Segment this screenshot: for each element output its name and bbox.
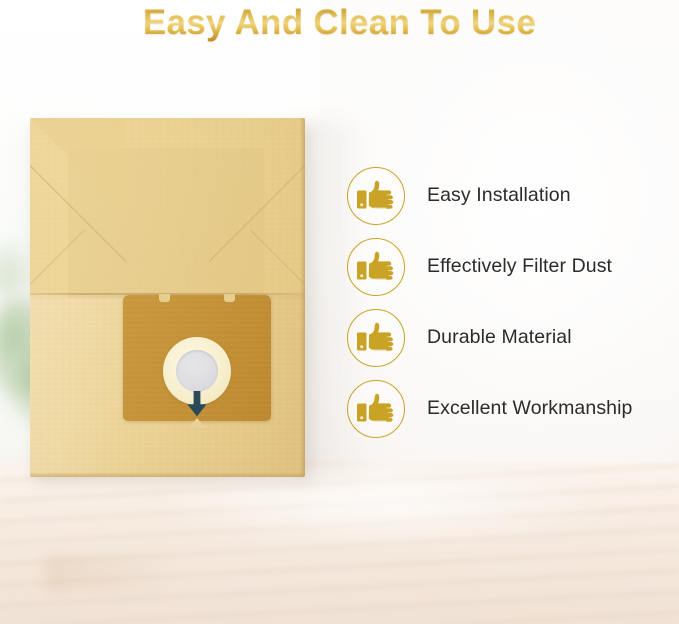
background-floor-plank-accent bbox=[44, 556, 174, 592]
feature-row: Effectively Filter Dust bbox=[347, 231, 667, 302]
thumbs-up-icon bbox=[347, 309, 405, 367]
thumbs-up-icon bbox=[347, 238, 405, 296]
infographic-canvas: Easy And Clean To Use bbox=[0, 0, 679, 624]
collar-notch-right bbox=[224, 294, 235, 302]
feature-row: Excellent Workmanship bbox=[347, 373, 667, 444]
thumbs-up-icon bbox=[347, 167, 405, 225]
feature-row: Durable Material bbox=[347, 302, 667, 373]
direction-arrow-icon bbox=[186, 391, 208, 417]
feature-label: Easy Installation bbox=[427, 184, 571, 207]
bag-fold-line-bottom-right bbox=[250, 229, 305, 291]
page-title: Easy And Clean To Use bbox=[0, 1, 679, 45]
bag-fold-corner-left bbox=[30, 118, 126, 214]
suction-inlet-membrane bbox=[176, 350, 218, 392]
cardboard-collar-plate bbox=[123, 295, 271, 421]
feature-row: Easy Installation bbox=[347, 160, 667, 231]
feature-list: Easy Installation Effectively Filter Dus… bbox=[347, 160, 667, 444]
background-floor-highlight bbox=[150, 470, 620, 550]
bag-top-flap bbox=[30, 118, 305, 294]
bag-bottom-edge bbox=[30, 473, 305, 477]
dust-bag-image bbox=[30, 118, 305, 477]
thumbs-up-icon bbox=[347, 380, 405, 438]
bag-fold-line-top-right bbox=[208, 158, 305, 262]
bag-fold-line-bottom-left bbox=[30, 229, 85, 291]
bag-right-edge bbox=[301, 118, 305, 477]
collar-notch-left bbox=[159, 294, 170, 302]
feature-label: Durable Material bbox=[427, 326, 572, 349]
collar-bottom-notch bbox=[188, 418, 206, 428]
feature-label: Excellent Workmanship bbox=[427, 397, 633, 420]
feature-label: Effectively Filter Dust bbox=[427, 255, 612, 278]
